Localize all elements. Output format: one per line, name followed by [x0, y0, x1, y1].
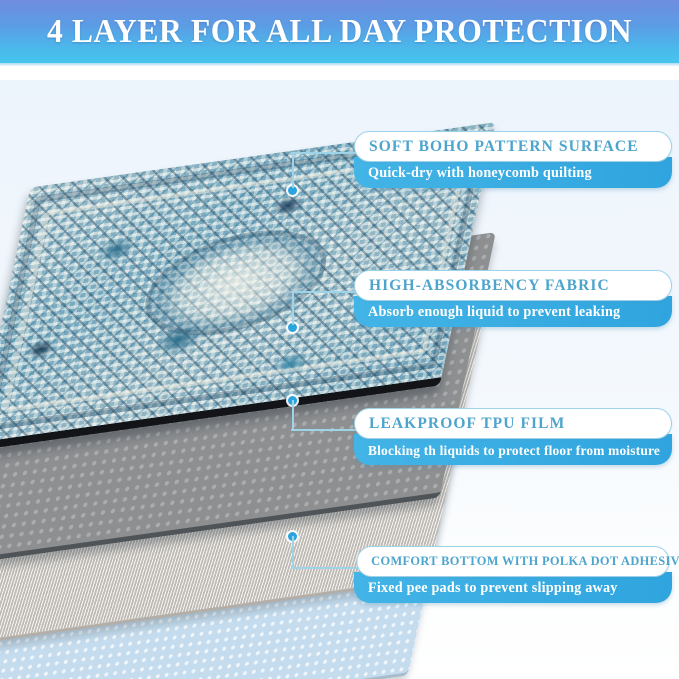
callout-boho-pattern-surface[interactable]: SOFT BOHO PATTERN SURFACE Quick-dry with…	[354, 131, 672, 188]
callout-title-4: COMFORT BOTTOM WITH POLKA DOT ADHESIVE	[356, 546, 669, 577]
callout-title-3: LEAKPROOF TPU FILM	[354, 408, 672, 439]
callout-title-2: HIGH-ABSORBENCY FABRIC	[354, 270, 672, 301]
infographic-canvas: 4 LAYER FOR ALL DAY PROTECTION	[0, 0, 679, 679]
page-title: 4 LAYER FOR ALL DAY PROTECTION	[47, 13, 632, 51]
header-banner: 4 LAYER FOR ALL DAY PROTECTION	[0, 0, 679, 63]
callout-leakproof-tpu-film[interactable]: LEAKPROOF TPU FILM Blocking th liquids t…	[354, 408, 672, 465]
boho-rug-top-layer	[0, 120, 410, 420]
callout-comfort-bottom-polka-dot[interactable]: COMFORT BOTTOM WITH POLKA DOT ADHESIVE F…	[354, 546, 672, 603]
callout-title-1: SOFT BOHO PATTERN SURFACE	[354, 131, 672, 162]
callout-high-absorbency-fabric[interactable]: HIGH-ABSORBENCY FABRIC Absorb enough liq…	[354, 270, 672, 327]
header-white-band	[0, 66, 679, 80]
layer-stack-illustration	[0, 120, 410, 660]
